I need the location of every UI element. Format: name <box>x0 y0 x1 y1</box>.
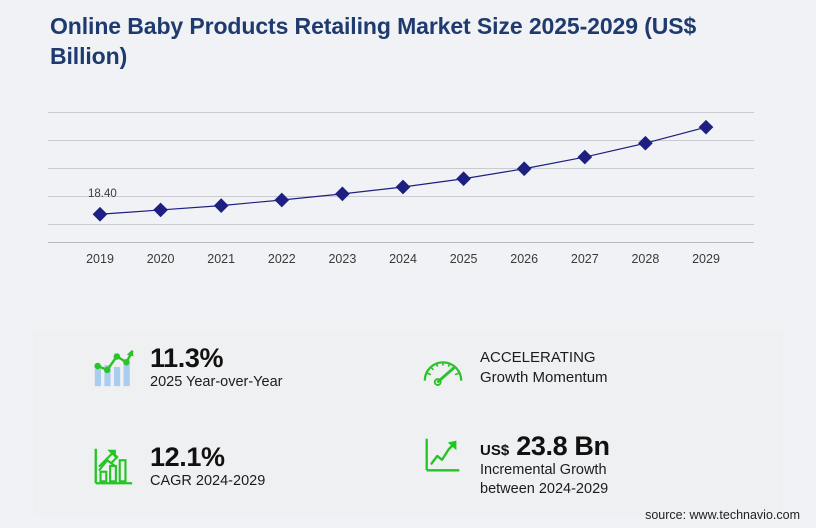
stat-incremental-growth: US$ 23.8 Bn Incremental Growth between 2… <box>420 432 610 499</box>
stat-value: 11.3% <box>150 344 282 373</box>
bar-chart-trend-icon <box>90 344 136 390</box>
x-axis-tick-2023: 2023 <box>328 252 356 266</box>
x-axis-tick-2028: 2028 <box>631 252 659 266</box>
x-axis-tick-2029: 2029 <box>692 252 720 266</box>
stat-label-2: Growth Momentum <box>480 368 608 388</box>
x-axis-tick-2027: 2027 <box>571 252 599 266</box>
stat-value: 12.1% <box>150 443 265 472</box>
stat-cagr: 12.1% CAGR 2024-2029 <box>90 443 265 491</box>
line-chart: 18.40 <box>48 104 754 246</box>
stat-value-number: 23.8 Bn <box>516 431 609 461</box>
data-point-2026 <box>517 161 532 176</box>
data-point-2021 <box>214 198 229 213</box>
data-point-2020 <box>153 203 168 218</box>
stat-value: US$ 23.8 Bn <box>480 432 610 461</box>
page-title: Online Baby Products Retailing Market Si… <box>50 11 770 72</box>
data-point-2028 <box>638 136 653 151</box>
stat-label: 2025 Year-over-Year <box>150 373 282 392</box>
data-point-2027 <box>577 150 592 165</box>
x-axis-tick-2019: 2019 <box>86 252 114 266</box>
stat-momentum: ACCELERATING Growth Momentum <box>420 348 608 394</box>
data-point-2019 <box>93 207 108 222</box>
data-point-2029 <box>699 120 714 135</box>
stat-yoy: 11.3% 2025 Year-over-Year <box>90 344 282 392</box>
chart-plot-area <box>48 104 754 246</box>
infographic-page: Online Baby Products Retailing Market Si… <box>0 0 816 528</box>
data-point-label-2019: 18.40 <box>88 188 117 200</box>
data-point-2025 <box>456 171 471 186</box>
data-point-2024 <box>396 180 411 195</box>
stat-label-2: between 2024-2029 <box>480 480 610 499</box>
stat-value-prefix: US$ <box>480 442 509 459</box>
data-point-2023 <box>335 187 350 202</box>
x-axis-tick-2022: 2022 <box>268 252 296 266</box>
line-chart-arrow-icon <box>420 432 466 478</box>
x-axis-tick-2021: 2021 <box>207 252 235 266</box>
bar-chart-arrow-icon <box>90 443 136 489</box>
x-axis-tick-2025: 2025 <box>450 252 478 266</box>
data-point-2022 <box>274 193 289 208</box>
x-axis-tick-2026: 2026 <box>510 252 538 266</box>
stat-label: Incremental Growth <box>480 461 610 480</box>
stat-label: CAGR 2024-2029 <box>150 472 265 491</box>
x-axis-tick-2020: 2020 <box>147 252 175 266</box>
stat-label: ACCELERATING <box>480 348 608 368</box>
chart-x-axis: 2019202020212022202320242025202620272028… <box>48 252 754 274</box>
speedometer-icon <box>420 348 466 394</box>
x-axis-tick-2024: 2024 <box>389 252 417 266</box>
source-text: source: www.technavio.com <box>645 508 800 522</box>
